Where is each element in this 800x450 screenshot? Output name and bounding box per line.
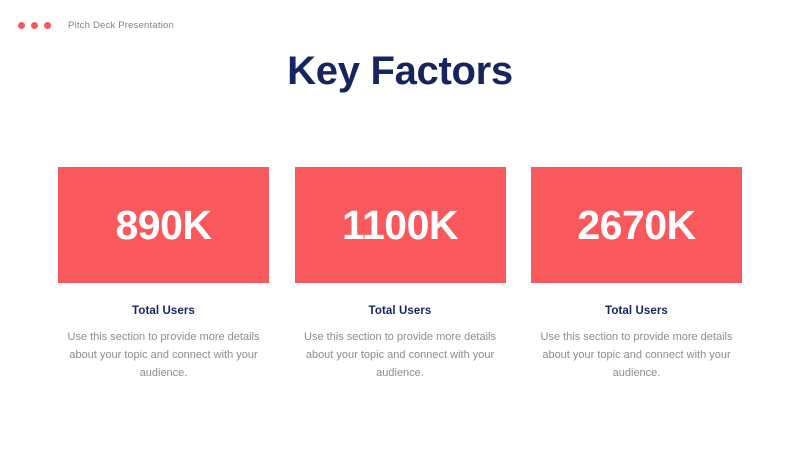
stat-column: 2670K Total Users Use this section to pr…: [531, 167, 742, 382]
stat-value: 1100K: [342, 205, 458, 246]
close-dot-icon[interactable]: [18, 22, 25, 29]
stat-card: 2670K: [531, 167, 742, 283]
stat-column: 1100K Total Users Use this section to pr…: [295, 167, 506, 382]
stat-label: Total Users: [605, 305, 668, 317]
stat-label: Total Users: [132, 305, 195, 317]
maximize-dot-icon[interactable]: [44, 22, 51, 29]
stat-card: 890K: [58, 167, 269, 283]
window-titlebar: Pitch Deck Presentation: [0, 0, 800, 50]
window-controls: [18, 22, 51, 29]
stat-label: Total Users: [369, 305, 432, 317]
stat-description: Use this section to provide more details…: [300, 329, 500, 382]
minimize-dot-icon[interactable]: [31, 22, 38, 29]
stat-columns: 890K Total Users Use this section to pro…: [58, 167, 742, 382]
stat-description: Use this section to provide more details…: [537, 329, 737, 382]
stat-value: 2670K: [577, 205, 695, 246]
stat-column: 890K Total Users Use this section to pro…: [58, 167, 269, 382]
stat-card: 1100K: [295, 167, 506, 283]
stat-value: 890K: [115, 205, 211, 246]
stat-description: Use this section to provide more details…: [64, 329, 264, 382]
window-title: Pitch Deck Presentation: [68, 20, 174, 31]
page-title: Key Factors: [0, 48, 800, 94]
